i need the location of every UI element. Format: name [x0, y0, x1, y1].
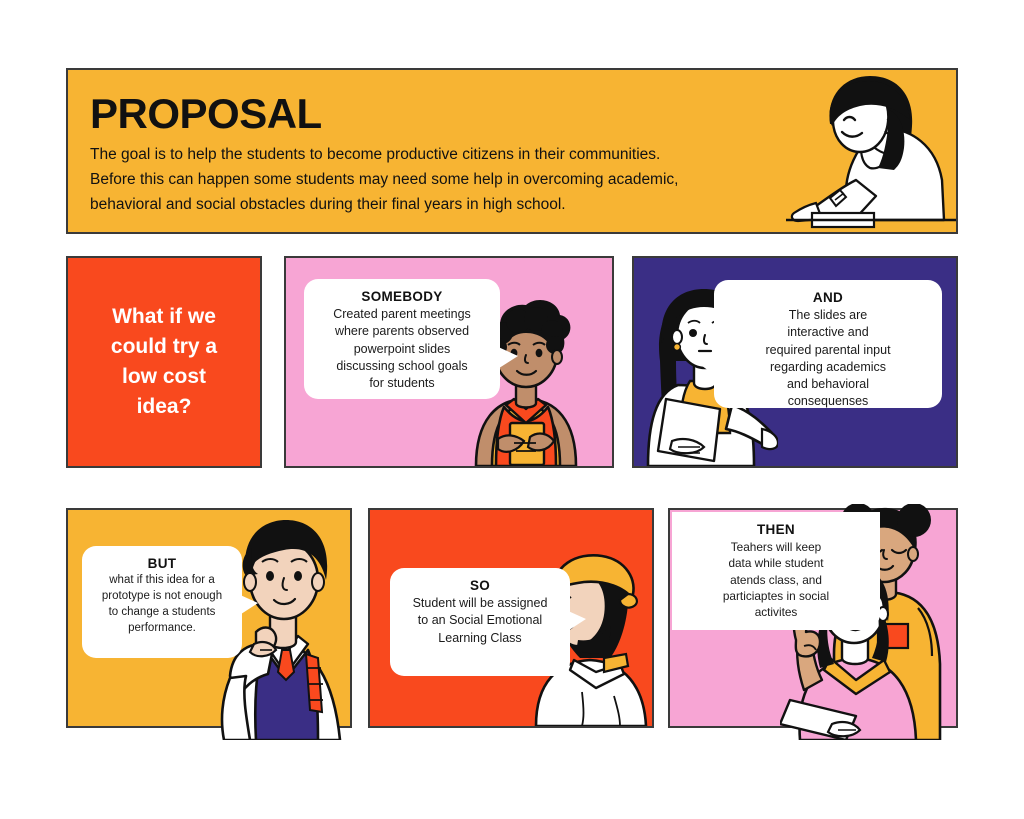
bubble-body-then: Teahers will keep data while student ate…: [686, 539, 866, 620]
panel-question: What if we could try a low cost idea?: [66, 256, 262, 468]
bubble-title-then: THEN: [686, 522, 866, 537]
bubble-title-and: AND: [728, 290, 928, 305]
storyboard-canvas: PROPOSAL The goal is to help the student…: [0, 0, 1024, 819]
panel-and: AND The slides are interactive and requi…: [632, 256, 958, 468]
speech-bubble-so: SO Student will be assigned to an Social…: [390, 568, 570, 676]
woman-writing-at-desk-illustration: [786, 70, 956, 232]
bubble-title-but: BUT: [96, 556, 228, 571]
bubble-body-but: what if this idea for a prototype is not…: [96, 573, 228, 636]
bubble-body-and: The slides are interactive and required …: [728, 307, 928, 411]
panel-but: BUT what if this idea for a prototype is…: [66, 508, 352, 728]
header-text-block: PROPOSAL The goal is to help the student…: [90, 92, 790, 217]
speech-bubble-somebody: SOMEBODY Created parent meetings where p…: [304, 279, 500, 399]
bubble-title-somebody: SOMEBODY: [318, 289, 486, 304]
page-title: PROPOSAL: [90, 92, 790, 136]
speech-bubble-then: THEN Teahers will keep data while studen…: [672, 512, 880, 630]
panel-then: THEN Teahers will keep data while studen…: [668, 508, 958, 728]
panel-so: SO Student will be assigned to an Social…: [368, 508, 654, 728]
bubble-body-so: Student will be assigned to an Social Em…: [404, 595, 556, 647]
bubble-title-so: SO: [404, 578, 556, 593]
speech-bubble-but: BUT what if this idea for a prototype is…: [82, 546, 242, 658]
panel-somebody: SOMEBODY Created parent meetings where p…: [284, 256, 614, 468]
proposal-header-panel: PROPOSAL The goal is to help the student…: [66, 68, 958, 234]
bubble-body-somebody: Created parent meetings where parents ob…: [318, 306, 486, 392]
question-text: What if we could try a low cost idea?: [99, 302, 229, 421]
header-description: The goal is to help the students to beco…: [90, 142, 790, 217]
speech-bubble-and: AND The slides are interactive and requi…: [714, 280, 942, 408]
